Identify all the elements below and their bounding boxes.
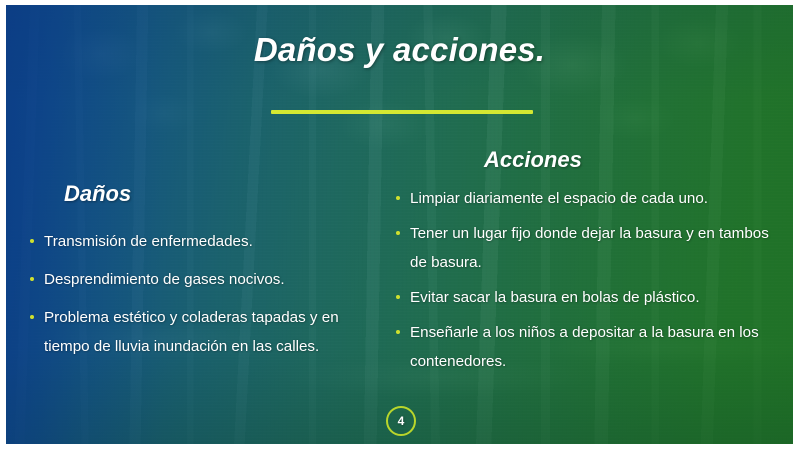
- title-underline-rule: [271, 110, 533, 114]
- list-item: Enseñarle a los niños a depositar a la b…: [394, 318, 786, 376]
- list-item: Desprendimiento de gases nocivos.: [28, 265, 368, 294]
- list-item: Tener un lugar fijo donde dejar la basur…: [394, 219, 786, 277]
- column-heading-danos: Daños: [64, 181, 368, 207]
- bullet-list-acciones: Limpiar diariamente el espacio de cada u…: [394, 184, 786, 376]
- list-item: Limpiar diariamente el espacio de cada u…: [394, 184, 786, 213]
- column-acciones: Acciones Limpiar diariamente el espacio …: [384, 147, 786, 382]
- column-danos: Daños Transmisión de enfermedades. Despr…: [16, 181, 368, 370]
- column-heading-acciones: Acciones: [484, 147, 786, 173]
- list-item: Problema estético y coladeras tapadas y …: [28, 303, 368, 361]
- slide: Daños y acciones. Daños Transmisión de e…: [6, 5, 793, 444]
- list-item: Transmisión de enfermedades.: [28, 227, 368, 256]
- slide-title: Daños y acciones.: [6, 31, 793, 69]
- list-item: Evitar sacar la basura en bolas de plást…: [394, 283, 786, 312]
- slide-content: Daños y acciones. Daños Transmisión de e…: [6, 5, 793, 444]
- page-number-badge: 4: [386, 406, 416, 436]
- bullet-list-danos: Transmisión de enfermedades. Desprendimi…: [28, 227, 368, 361]
